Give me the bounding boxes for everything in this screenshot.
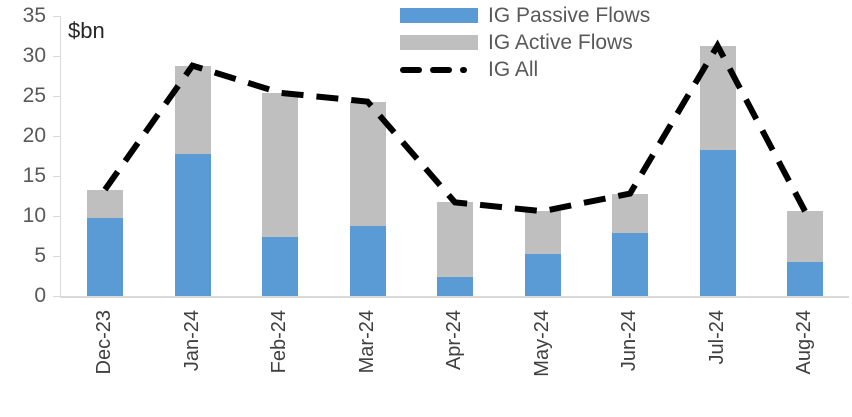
x-axis-tick-label: Feb-24 bbox=[269, 310, 289, 373]
bar-segment-active bbox=[437, 202, 473, 276]
bar-segment-active bbox=[262, 93, 298, 237]
y-axis-tick bbox=[53, 96, 60, 97]
y-axis-tick-label: 35 bbox=[0, 5, 46, 26]
legend-label-ig-all: IG All bbox=[488, 56, 538, 83]
bar-segment-passive bbox=[612, 233, 648, 296]
y-axis-tick bbox=[53, 176, 60, 177]
x-axis-tick-label: Mar-24 bbox=[357, 310, 377, 373]
y-axis-tick bbox=[53, 256, 60, 257]
legend-label-active: IG Active Flows bbox=[488, 29, 633, 56]
bar-segment-passive bbox=[525, 254, 561, 296]
bar-segment-active bbox=[787, 211, 823, 261]
x-axis-tick-label: Jul-24 bbox=[707, 310, 727, 364]
x-axis-tick-label: Dec-23 bbox=[94, 310, 114, 374]
y-axis-tick-label: 20 bbox=[0, 125, 46, 146]
y-axis-tick-label: 25 bbox=[0, 85, 46, 106]
plot-area: 05101520253035 $bn Dec-23Jan-24Feb-24Mar… bbox=[0, 0, 852, 417]
x-axis-tick-label: May-24 bbox=[532, 310, 552, 377]
x-axis-tick-label: Aug-24 bbox=[794, 310, 814, 375]
legend-swatch-icon-active bbox=[400, 35, 478, 50]
x-axis-line bbox=[60, 296, 849, 298]
bar-segment-active bbox=[612, 194, 648, 233]
bar-segment-active bbox=[700, 46, 736, 150]
y-axis-tick-label: 0 bbox=[0, 285, 46, 306]
y-axis-tick bbox=[53, 296, 60, 297]
y-axis-tick bbox=[53, 56, 60, 57]
bar-segment-active bbox=[175, 66, 211, 155]
bar-segment-passive bbox=[175, 154, 211, 296]
y-axis-tick-label: 15 bbox=[0, 165, 46, 186]
y-axis-tick bbox=[53, 216, 60, 217]
bar-segment-passive bbox=[350, 226, 386, 296]
bar-segment-active bbox=[87, 190, 123, 218]
bar-segment-passive bbox=[700, 150, 736, 296]
bar-segment-active bbox=[525, 211, 561, 253]
x-axis-tick-label: Jan-24 bbox=[182, 310, 202, 371]
bar-segment-passive bbox=[87, 218, 123, 296]
x-axis-tick-label: Apr-24 bbox=[444, 310, 464, 370]
y-axis-tick bbox=[53, 16, 60, 17]
bar-segment-passive bbox=[437, 277, 473, 296]
y-axis-line bbox=[60, 16, 61, 297]
y-axis-tick-label: 10 bbox=[0, 205, 46, 226]
bar-segment-passive bbox=[262, 237, 298, 296]
x-axis-tick-label: Jun-24 bbox=[619, 310, 639, 371]
legend-dashed-line-icon bbox=[400, 67, 478, 73]
y-axis-tick bbox=[53, 136, 60, 137]
y-axis-tick-label: 5 bbox=[0, 245, 46, 266]
chart-container: 05101520253035 $bn Dec-23Jan-24Feb-24Mar… bbox=[0, 0, 852, 417]
legend-swatch-icon-passive bbox=[400, 8, 478, 23]
legend-label-passive: IG Passive Flows bbox=[488, 2, 650, 29]
bar-segment-passive bbox=[787, 262, 823, 296]
y-axis-unit-label: $bn bbox=[68, 20, 105, 42]
bar-segment-active bbox=[350, 102, 386, 226]
y-axis-tick-label: 30 bbox=[0, 45, 46, 66]
